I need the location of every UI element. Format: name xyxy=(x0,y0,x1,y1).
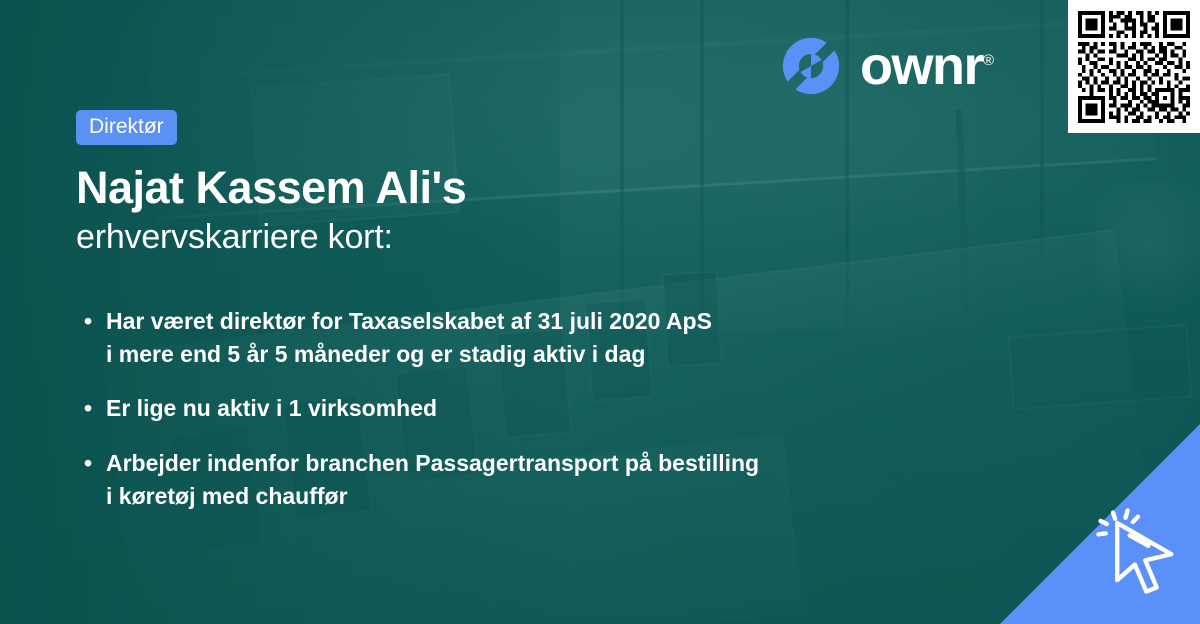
list-item: Er lige nu aktiv i 1 virksomhed xyxy=(80,392,980,425)
click-cursor-icon xyxy=(1084,498,1192,602)
list-item: Arbejder indenfor branchen Passagertrans… xyxy=(80,447,980,512)
ownr-logo[interactable]: ownr® xyxy=(780,35,994,97)
list-item-line1: Er lige nu aktiv i 1 virksomhed xyxy=(106,395,437,421)
ownr-wordmark: ownr® xyxy=(860,39,994,93)
registered-trademark-icon: ® xyxy=(983,52,994,69)
ownr-wordmark-text: ownr xyxy=(860,36,983,96)
list-item-line2: i mere end 5 år 5 måneder og er stadig a… xyxy=(106,338,980,371)
page-title: Najat Kassem Ali's xyxy=(76,163,956,213)
role-badge: Direktør xyxy=(76,110,177,145)
page-subtitle: erhvervskarriere kort: xyxy=(76,217,956,258)
list-item-line1: Arbejder indenfor branchen Passagertrans… xyxy=(106,450,759,476)
list-item: Har været direktør for Taxaselskabet af … xyxy=(80,305,980,370)
heading-block: Direktør Najat Kassem Ali's erhvervskarr… xyxy=(76,110,956,258)
list-item-line1: Har været direktør for Taxaselskabet af … xyxy=(106,308,712,334)
qr-code[interactable] xyxy=(1078,11,1190,123)
qr-code-panel[interactable] xyxy=(1068,0,1200,133)
list-item-line2: i køretøj med chauffør xyxy=(106,480,980,513)
career-card: ownr® Direktør Najat Kassem Ali's erhver… xyxy=(0,0,1200,624)
career-facts-list: Har været direktør for Taxaselskabet af … xyxy=(80,305,980,534)
ownr-circle-swoosh-icon xyxy=(780,35,842,97)
